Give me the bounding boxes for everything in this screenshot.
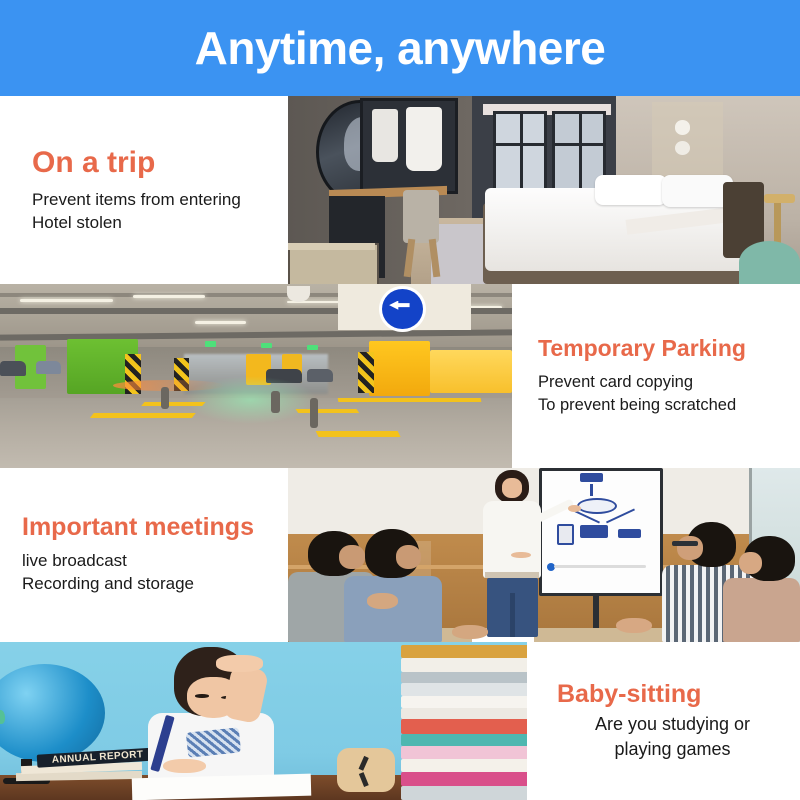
lane-marking	[338, 398, 482, 402]
section-text-important-meetings: Important meetings live broadcast Record…	[0, 468, 288, 642]
book-stack	[401, 642, 527, 800]
hotel-lamp-stem	[774, 203, 780, 244]
section-line-2: Recording and storage	[22, 573, 288, 596]
attendee-face	[677, 536, 703, 560]
lane-marking	[316, 431, 401, 437]
stacked-book	[401, 672, 527, 683]
section-on-a-trip: On a trip Prevent items from entering Ho…	[0, 96, 800, 284]
section-text-temporary-parking: Temporary Parking Prevent card copying T…	[512, 284, 800, 468]
section-heading: Baby-sitting	[557, 681, 701, 709]
presenter-face	[502, 478, 522, 497]
presenter-hand	[568, 505, 581, 513]
bollard	[271, 391, 279, 413]
hotel-wall-sconce-2	[675, 141, 690, 155]
section-text-on-a-trip: On a trip Prevent items from entering Ho…	[0, 96, 288, 284]
diagram-laptop-icon	[580, 473, 603, 482]
stacked-book	[401, 719, 527, 733]
hotel-robe-2	[406, 107, 442, 171]
attendee-hand	[616, 618, 652, 634]
parking-garage-image	[0, 284, 512, 468]
section-baby-sitting: ANNUAL REPORT	[0, 642, 800, 800]
hotel-robe-1	[372, 109, 398, 162]
attendee-face	[739, 552, 762, 575]
stacked-book	[401, 734, 527, 747]
section-heading: On a trip	[32, 146, 288, 179]
diagram-monitor-icon	[580, 525, 608, 537]
section-line-1: Are you studying or	[595, 712, 750, 736]
section-temporary-parking: Temporary Parking Prevent card copying T…	[0, 284, 800, 468]
section-line-2: playing games	[614, 737, 730, 761]
section-heading: Temporary Parking	[538, 336, 800, 361]
exit-light	[307, 345, 318, 351]
attendee-face	[396, 545, 422, 569]
section-line-1: Prevent card copying	[538, 371, 800, 393]
glasses-icon	[672, 541, 698, 546]
section-line-1: Prevent items from entering	[32, 189, 288, 212]
section-text-baby-sitting: Baby-sitting Are you studying or playing…	[527, 642, 800, 800]
bollard	[161, 387, 169, 409]
garage-pillar-yellow	[430, 350, 512, 392]
garage-light	[20, 299, 112, 302]
stacked-book	[401, 645, 527, 658]
lane-marking	[90, 413, 196, 418]
hotel-table-lamp	[764, 194, 795, 203]
stacked-book	[401, 658, 527, 672]
lane-marking	[142, 402, 207, 406]
attendee-face	[339, 545, 365, 569]
presenter-body	[483, 501, 542, 578]
whiteboard-tray	[554, 565, 646, 568]
promo-page: Anytime, anywhere On a trip Prevent item…	[0, 0, 800, 800]
globe-icon	[0, 664, 105, 762]
direction-sign-icon	[379, 286, 426, 332]
garage-light	[195, 321, 246, 324]
diagram-cloud-icon	[577, 498, 617, 514]
parked-car	[36, 361, 62, 374]
section-line-2: To prevent being scratched	[538, 394, 800, 416]
hotel-chair	[403, 190, 439, 243]
attendee-body	[344, 576, 441, 642]
study-illustration: ANNUAL REPORT	[0, 642, 527, 800]
stacked-book	[401, 786, 527, 800]
section-heading: Important meetings	[22, 514, 288, 542]
diagram-phone-icon	[557, 524, 574, 545]
page-title: Anytime, anywhere	[195, 25, 606, 71]
notebook-paper	[131, 774, 311, 800]
diagram-connector	[590, 484, 593, 496]
child-writing-hand	[163, 759, 205, 773]
garage-illustration	[0, 284, 512, 468]
hotel-pillow-1	[595, 175, 667, 205]
lane-marking	[295, 409, 359, 413]
meeting-room-image	[288, 468, 800, 642]
garage-light	[133, 295, 205, 298]
hotel-wall-sconce-1	[675, 120, 690, 134]
header-banner: Anytime, anywhere	[0, 0, 800, 96]
child-hand-on-head	[216, 655, 263, 672]
exit-light	[261, 343, 272, 349]
hotel-side-table	[739, 241, 800, 284]
parked-car	[0, 361, 26, 376]
hazard-stripe	[358, 352, 373, 392]
attendee-hand	[452, 625, 488, 639]
child-eye	[195, 694, 209, 697]
meeting-illustration	[288, 468, 800, 642]
garage-pillar-yellow	[369, 341, 430, 396]
attendee-hand	[367, 593, 398, 609]
child-studying-image: ANNUAL REPORT	[0, 642, 527, 800]
presenter-jeans-seam	[510, 593, 515, 637]
stacked-book	[401, 683, 527, 696]
stacked-book	[401, 759, 527, 772]
stacked-book	[401, 708, 527, 719]
hotel-room-image	[288, 96, 800, 284]
presenter-belt	[485, 572, 539, 577]
hotel-bench-top	[288, 243, 375, 251]
globe-landmass	[0, 710, 5, 724]
exit-light	[205, 341, 216, 347]
hotel-illustration	[288, 96, 800, 284]
diagram-laptop-icon	[618, 529, 641, 538]
stacked-book	[401, 772, 527, 786]
section-line-1: live broadcast	[22, 550, 288, 573]
section-important-meetings: Important meetings live broadcast Record…	[0, 468, 800, 642]
stacked-book	[401, 696, 527, 709]
section-line-2: Hotel stolen	[32, 212, 288, 235]
bollard	[310, 398, 318, 427]
hotel-art-panel	[652, 102, 724, 177]
attendee-body	[723, 578, 800, 642]
stacked-book	[401, 746, 527, 759]
